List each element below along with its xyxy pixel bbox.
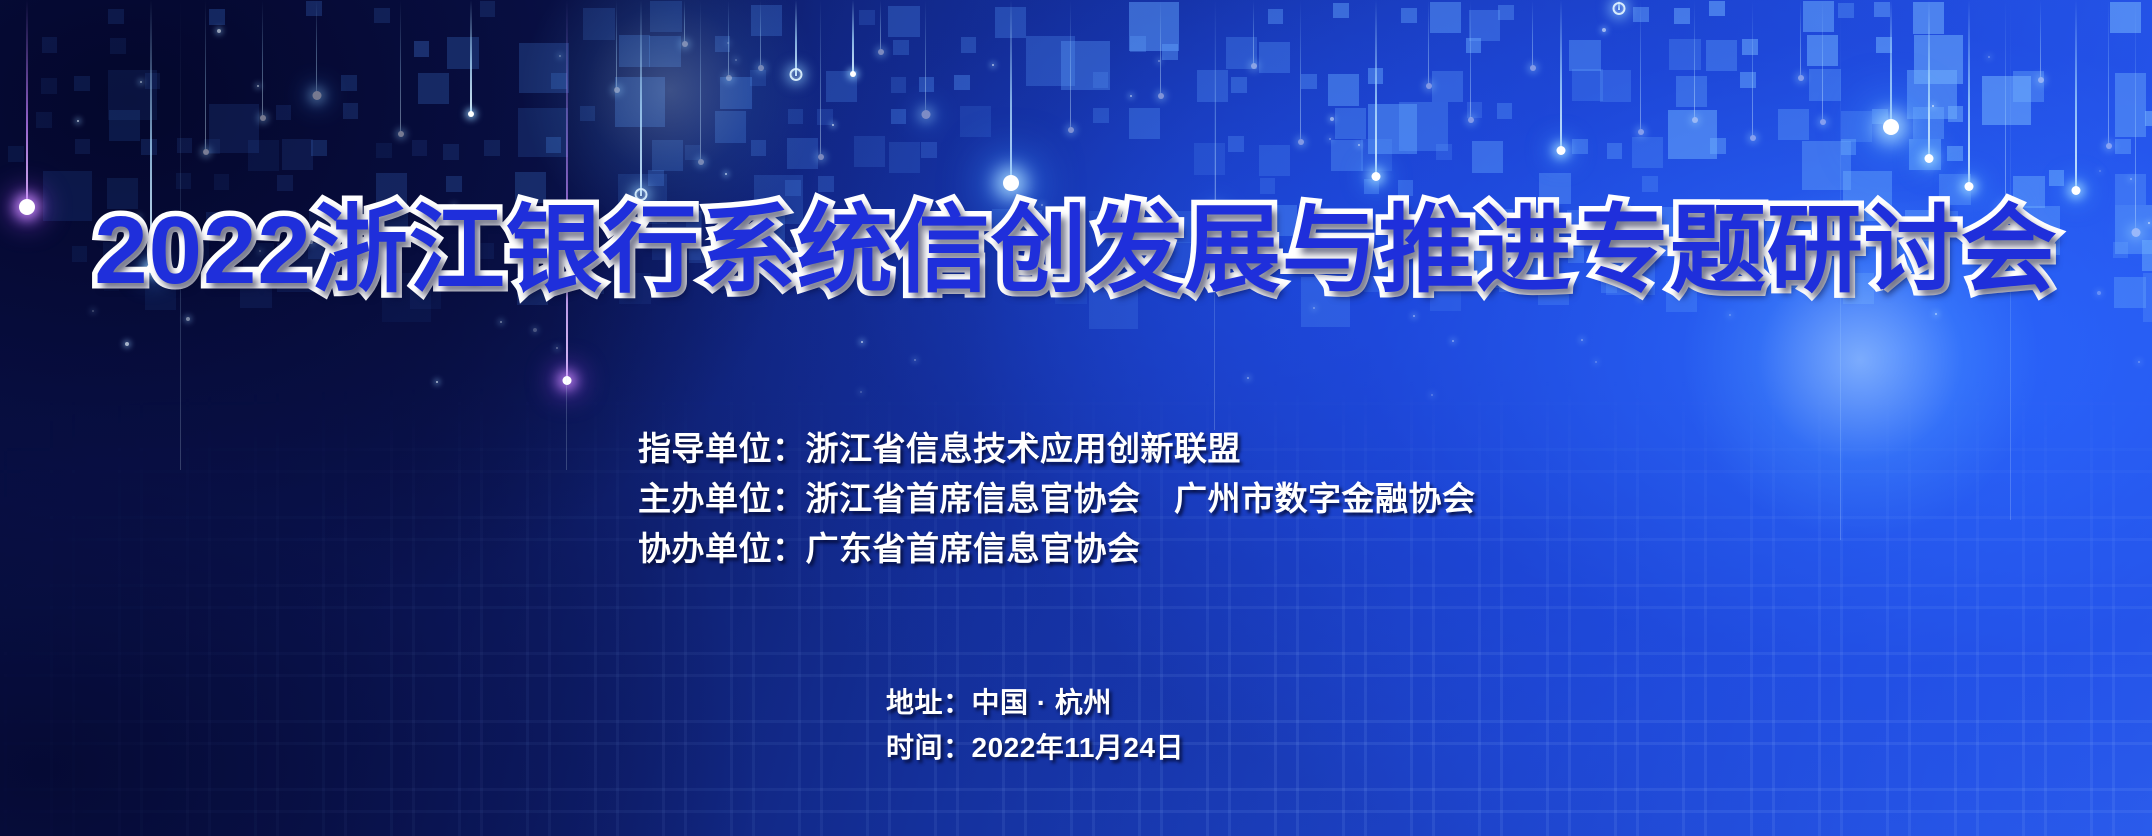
event-meta-block: 地址：中国 · 杭州 时间：2022年11月24日 [886, 680, 1184, 770]
organizer-block: 指导单位：浙江省信息技术应用创新联盟 主办单位：浙江省首席信息官协会 广州市数字… [638, 424, 1476, 574]
event-title: 2022浙江银行系统信创发展与推进专题研讨会 [0, 196, 2152, 306]
event-date: 时间：2022年11月24日 [886, 725, 1184, 770]
banner-content: 2022浙江银行系统信创发展与推进专题研讨会 指导单位：浙江省信息技术应用创新联… [0, 0, 2152, 836]
event-location: 地址：中国 · 杭州 [886, 680, 1184, 725]
event-banner: 2022浙江银行系统信创发展与推进专题研讨会 指导单位：浙江省信息技术应用创新联… [0, 0, 2152, 836]
organizer-line-guidance: 指导单位：浙江省信息技术应用创新联盟 [638, 424, 1476, 474]
organizer-line-host: 主办单位：浙江省首席信息官协会 广州市数字金融协会 [638, 474, 1476, 524]
organizer-line-coorganizer: 协办单位：广东省首席信息官协会 [638, 524, 1476, 574]
